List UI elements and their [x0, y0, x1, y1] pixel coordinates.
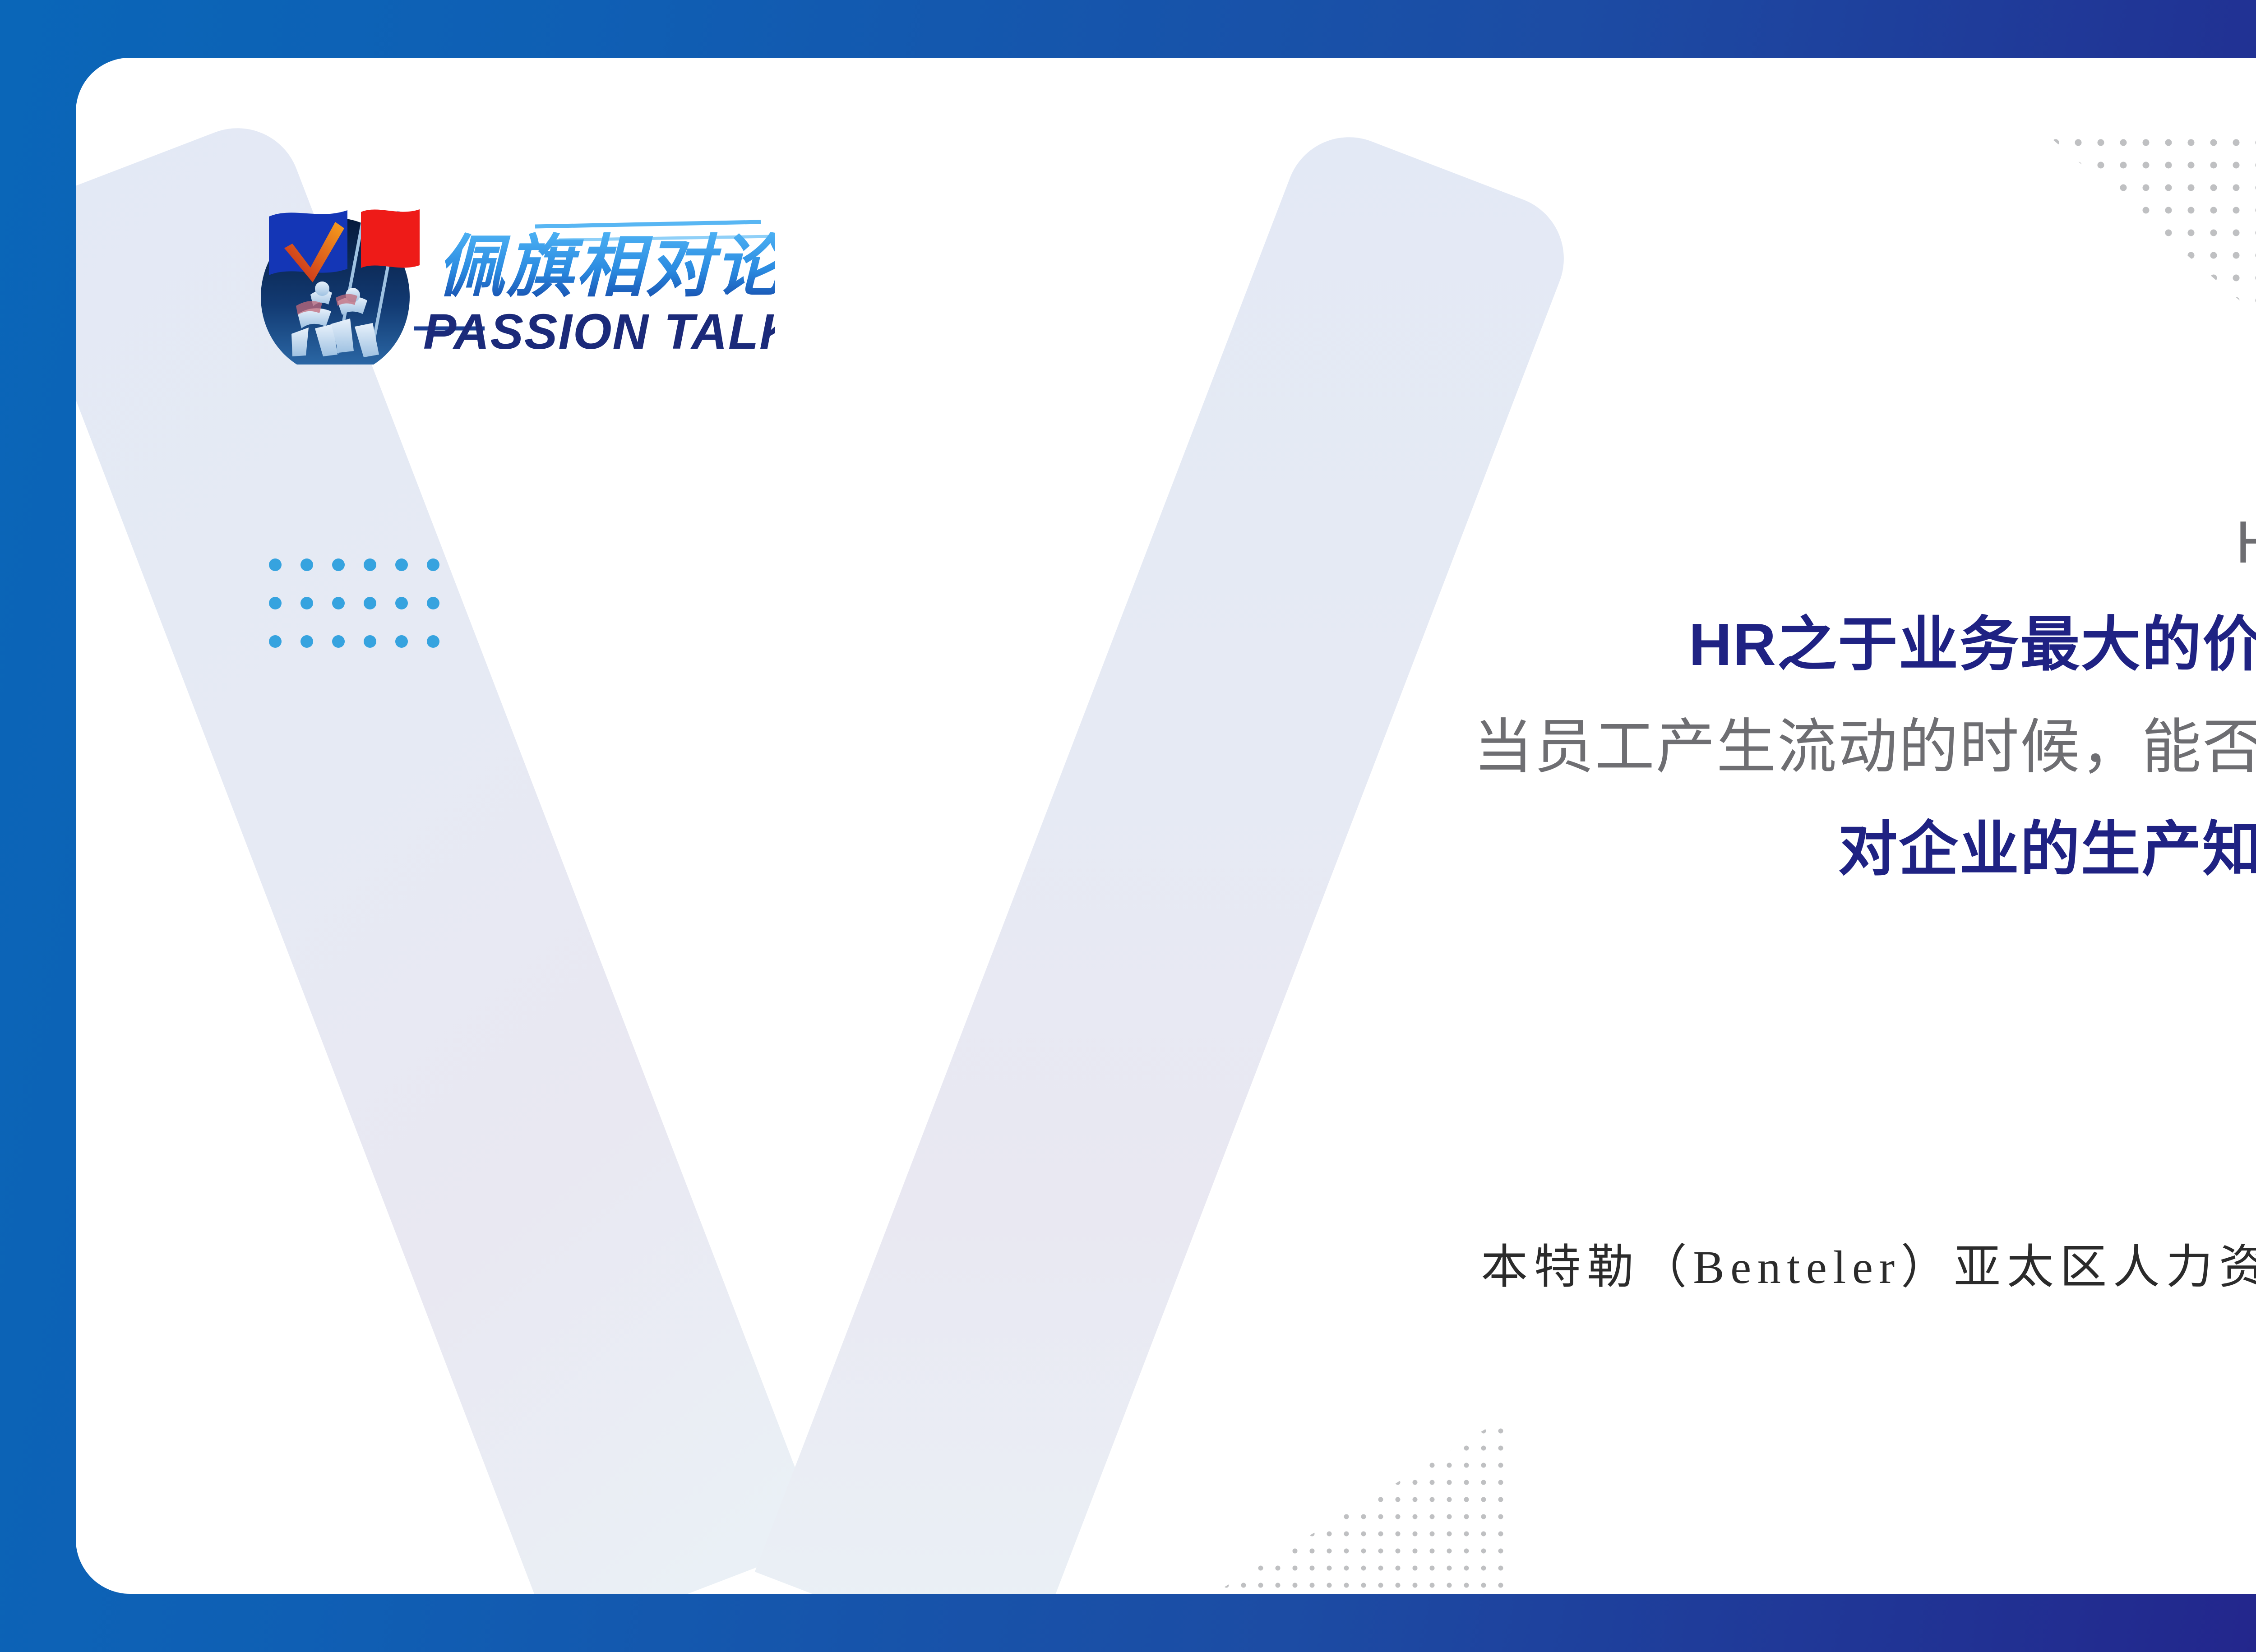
dot-grid-bottom [1172, 1411, 1515, 1594]
dot-grid-top-right [2052, 139, 2256, 419]
slide-card: 佩旗相对论 PASSION TALK [76, 58, 2256, 1594]
quote-line-3: 当员工产生流动的时候，能否搭建人才知识体系 [629, 696, 2256, 798]
logo-wordmark-cn: 佩旗相对论 [437, 229, 775, 305]
logo-wordmark-en: PASSION TALK [423, 304, 775, 360]
dot-grid-left [269, 558, 440, 662]
quote-line-2: HR之于业务最大的价值在于人才的补齐 [629, 593, 2256, 696]
logo-flag-red [361, 209, 420, 268]
brand-logo[interactable]: 佩旗相对论 PASSION TALK [243, 193, 775, 365]
quote-block: HR要深入了解业务 HR之于业务最大的价值在于人才的补齐 当员工产生流动的时候，… [629, 491, 2256, 900]
quote-line-4: 对企业的生产知识进行固化和转变 [629, 798, 2256, 900]
logo-speed-line-1 [535, 222, 761, 226]
quote-line-1: HR要深入了解业务 [629, 491, 2256, 593]
speaker-attribution: 本特勒（Benteler）亚太区人力资源总监——崔晔女士 [629, 1228, 2256, 1297]
slide-canvas: 佩旗相对论 PASSION TALK [0, 0, 2256, 1652]
